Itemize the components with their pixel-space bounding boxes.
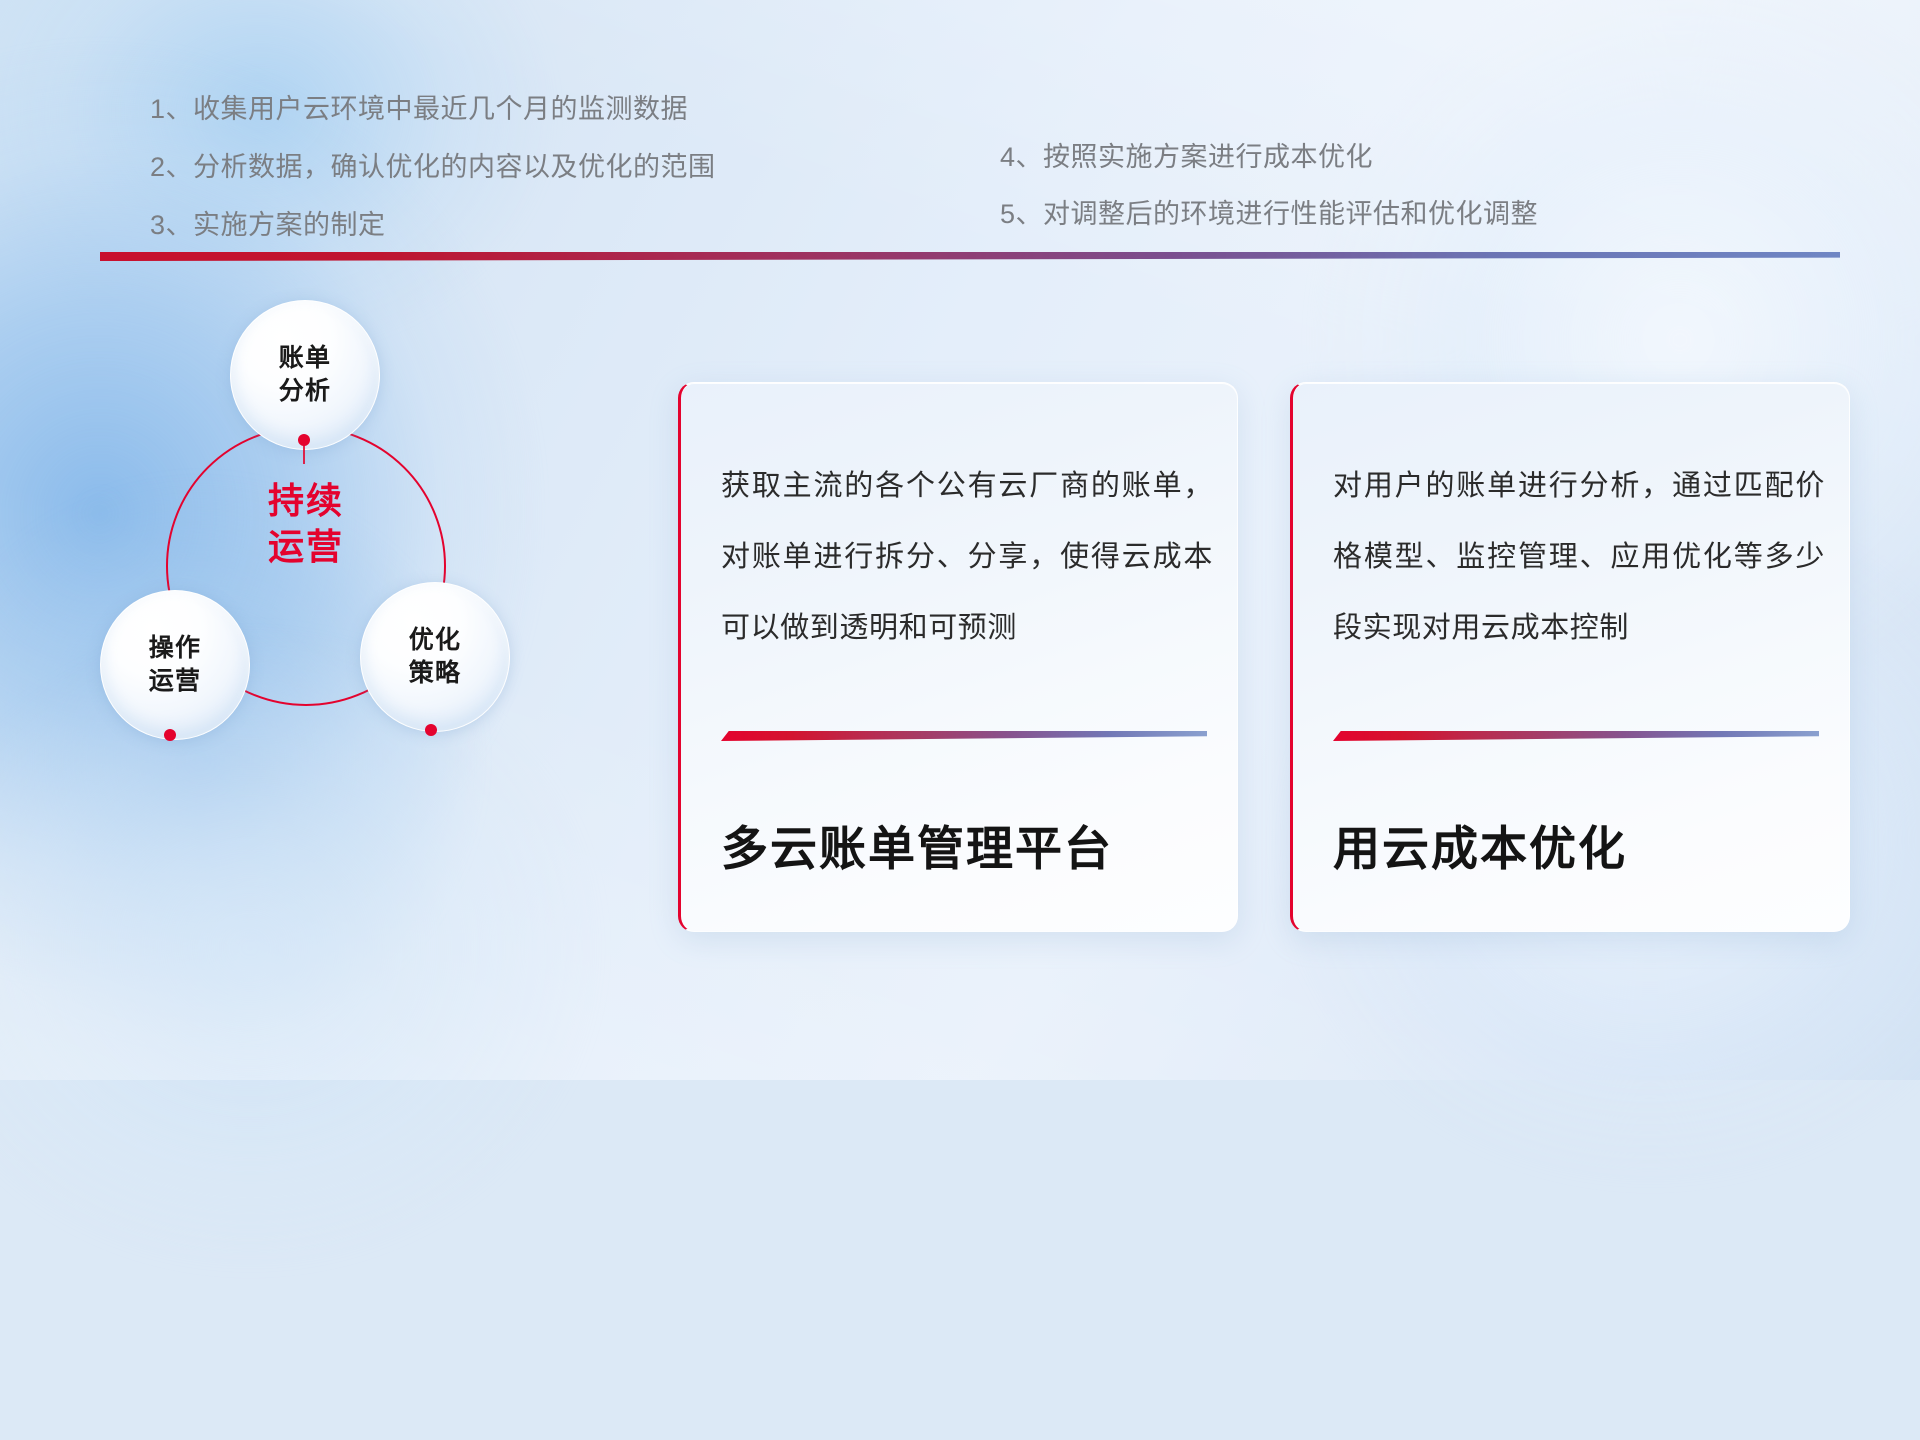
venn-node-billing-analysis-label: 账单 分析 [279,342,331,408]
steps-section: 1、收集用户云环境中最近几个月的监测数据 2、分析数据，确认优化的内容以及优化的… [0,0,1920,262]
venn-connector-dot-bottom-right [425,724,437,736]
venn-center-label-line-1: 持续 [268,480,344,521]
card-divider [721,731,1207,741]
venn-label-line-1: 优化 [409,626,461,654]
venn-label-line-2: 分析 [279,377,331,405]
venn-label-line-2: 运营 [149,667,201,695]
step-item-2: 2、分析数据，确认优化的内容以及优化的范围 [150,154,716,181]
venn-connector-dot-top [298,434,310,446]
card-cloud-cost-optimization[interactable]: 对用户的账单进行分析，通过匹配价格模型、监控管理、应用优化等多少段实现对用云成本… [1290,382,1850,932]
card-divider-bar [1333,731,1819,741]
step-item-1: 1、收集用户云环境中最近几个月的监测数据 [150,96,716,123]
section-divider-rule [100,252,1840,261]
venn-label-line-1: 账单 [279,344,331,372]
venn-node-operations-label: 操作 运营 [149,632,201,698]
card-multi-cloud-billing-platform[interactable]: 获取主流的各个公有云厂商的账单，对账单进行拆分、分享，使得云成本可以做到透明和可… [678,382,1238,932]
venn-connector-tick-top [303,444,305,464]
venn-label-line-1: 操作 [149,634,201,662]
card-title: 多云账单管理平台 [721,823,1113,875]
venn-node-operations[interactable]: 操作 运营 [100,590,250,740]
venn-label-line-2: 策略 [409,659,461,687]
steps-column-left: 1、收集用户云环境中最近几个月的监测数据 2、分析数据，确认优化的内容以及优化的… [150,96,716,270]
venn-node-billing-analysis[interactable]: 账单 分析 [230,300,380,450]
venn-center-label-line-2: 运营 [268,526,344,567]
venn-node-optimization-strategy-label: 优化 策略 [409,624,461,690]
steps-column-right: 4、按照实施方案进行成本优化 5、对调整后的环境进行性能评估和优化调整 [1000,144,1538,258]
card-divider [1333,731,1819,741]
venn-diagram: 账单 分析 操作 运营 优化 策略 持续 运营 [98,286,568,776]
venn-center-label: 持续 运营 [216,478,396,570]
step-item-3: 3、实施方案的制定 [150,212,716,239]
card-body-text: 对用户的账单进行分析，通过匹配价格模型、监控管理、应用优化等多少段实现对用云成本… [1333,451,1825,664]
step-item-4: 4、按照实施方案进行成本优化 [1000,144,1538,171]
card-divider-bar [721,731,1207,741]
venn-connector-dot-bottom-left [164,729,176,741]
card-body-text: 获取主流的各个公有云厂商的账单，对账单进行拆分、分享，使得云成本可以做到透明和可… [721,451,1213,664]
card-title: 用云成本优化 [1333,823,1627,875]
step-item-5: 5、对调整后的环境进行性能评估和优化调整 [1000,201,1538,228]
section-divider-bar [100,252,1840,261]
venn-node-optimization-strategy[interactable]: 优化 策略 [360,582,510,732]
